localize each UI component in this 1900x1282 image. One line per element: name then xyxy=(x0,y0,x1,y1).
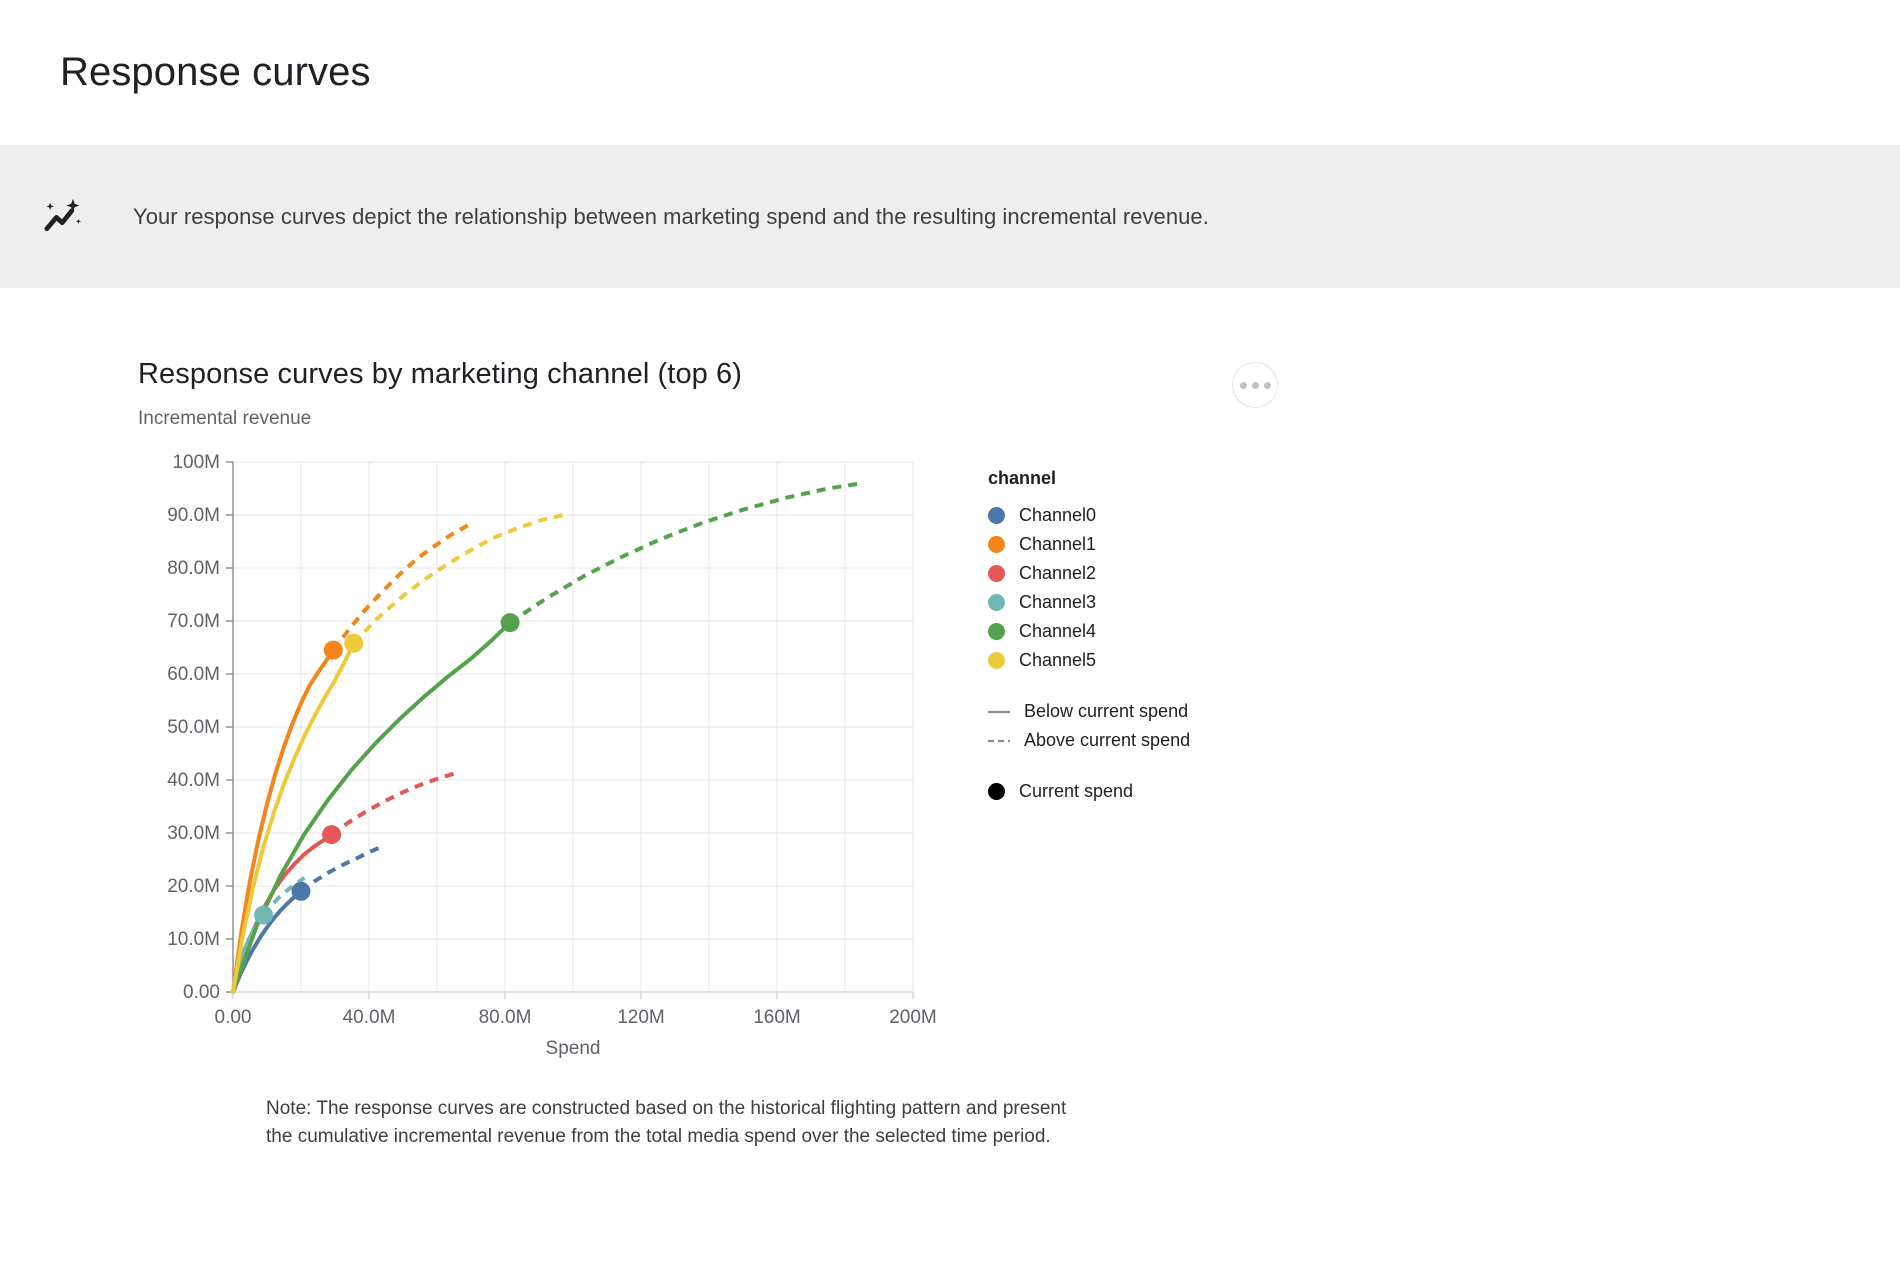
legend-label: Below current spend xyxy=(1024,701,1188,722)
current-spend-marker-channel1[interactable] xyxy=(324,641,343,660)
legend-swatch-icon xyxy=(988,652,1005,669)
series-line-above-channel0[interactable] xyxy=(301,848,379,891)
legend-item-channel2[interactable]: Channel2 xyxy=(988,559,1190,588)
legend-swatch-icon xyxy=(988,565,1005,582)
current-spend-marker-channel2[interactable] xyxy=(322,825,341,844)
legend-swatch-icon xyxy=(988,536,1005,553)
x-tick-label: 120M xyxy=(617,1007,665,1028)
legend-swatch-icon xyxy=(988,594,1005,611)
y-tick-label: 40.0M xyxy=(167,770,220,791)
x-tick-label: 200M xyxy=(889,1007,937,1028)
chart-note: Note: The response curves are constructe… xyxy=(266,1095,1096,1150)
chart-title: Response curves by marketing channel (to… xyxy=(138,358,742,391)
solid-line-icon xyxy=(988,703,1010,720)
dashed-line-icon xyxy=(988,732,1010,749)
legend-label: Above current spend xyxy=(1024,730,1190,751)
legend-label: Channel0 xyxy=(1019,505,1096,526)
sparkle-trend-icon xyxy=(35,189,91,245)
chart-header: Response curves by marketing channel (to… xyxy=(138,358,1438,430)
series-line-above-channel5[interactable] xyxy=(354,514,568,643)
legend-style-list: Below current spendAbove current spend xyxy=(988,697,1190,755)
legend-title: channel xyxy=(988,468,1190,489)
response-curves-card: Response curves by marketing channel (to… xyxy=(138,358,1438,1150)
x-tick-label: 0.00 xyxy=(215,1007,252,1028)
info-banner: Your response curves depict the relation… xyxy=(0,145,1900,288)
y-tick-label: 20.0M xyxy=(167,876,220,897)
y-tick-label: 0.00 xyxy=(183,982,220,1003)
y-tick-label: 70.0M xyxy=(167,611,220,632)
legend-swatch-icon xyxy=(988,623,1005,640)
response-curves-chart[interactable]: 0.0010.0M20.0M30.0M40.0M50.0M60.0M70.0M8… xyxy=(138,452,958,1072)
y-tick-label: 60.0M xyxy=(167,664,220,685)
legend-item-channel1[interactable]: Channel1 xyxy=(988,530,1190,559)
legend-label: Channel3 xyxy=(1019,592,1096,613)
legend-spacer-1 xyxy=(988,675,1190,697)
kebab-dot-1 xyxy=(1240,382,1247,389)
kebab-dot-3 xyxy=(1264,382,1271,389)
x-tick-label: 40.0M xyxy=(343,1007,396,1028)
current-spend-marker-channel3[interactable] xyxy=(254,906,273,925)
legend-item-channel3[interactable]: Channel3 xyxy=(988,588,1190,617)
legend-series-list: Channel0Channel1Channel2Channel3Channel4… xyxy=(988,501,1190,675)
legend-item-channel5[interactable]: Channel5 xyxy=(988,646,1190,675)
current-spend-dot-icon xyxy=(988,783,1005,800)
legend-item-solid[interactable]: Below current spend xyxy=(988,697,1190,726)
chart-legend: channel Channel0Channel1Channel2Channel3… xyxy=(988,452,1190,1077)
legend-label: Channel5 xyxy=(1019,650,1096,671)
y-tick-label: 10.0M xyxy=(167,929,220,950)
series-line-above-channel1[interactable] xyxy=(333,525,469,651)
legend-spacer-2 xyxy=(988,755,1190,777)
legend-item-channel0[interactable]: Channel0 xyxy=(988,501,1190,530)
page-header: Response curves xyxy=(0,0,1900,145)
plot-area: 0.0010.0M20.0M30.0M40.0M50.0M60.0M70.0M8… xyxy=(138,452,958,1077)
plot-wrapper: 0.0010.0M20.0M30.0M40.0M50.0M60.0M70.0M8… xyxy=(138,452,1438,1077)
y-tick-label: 100M xyxy=(172,452,220,473)
series-line-above-channel4[interactable] xyxy=(510,483,862,622)
card-area: Response curves by marketing channel (to… xyxy=(0,288,1900,1150)
chart-options-button[interactable] xyxy=(1232,362,1278,408)
legend-label-current-spend: Current spend xyxy=(1019,781,1133,802)
current-spend-marker-channel0[interactable] xyxy=(292,882,311,901)
current-spend-marker-channel4[interactable] xyxy=(501,613,520,632)
banner-message: Your response curves depict the relation… xyxy=(133,204,1209,230)
y-tick-label: 30.0M xyxy=(167,823,220,844)
y-tick-label: 90.0M xyxy=(167,505,220,526)
y-tick-label: 50.0M xyxy=(167,717,220,738)
x-tick-label: 160M xyxy=(753,1007,801,1028)
kebab-dot-2 xyxy=(1252,382,1259,389)
series-line-above-channel2[interactable] xyxy=(332,772,460,835)
y-tick-label: 80.0M xyxy=(167,558,220,579)
current-spend-marker-channel5[interactable] xyxy=(344,634,363,653)
x-tick-label: 80.0M xyxy=(479,1007,532,1028)
legend-item-current-spend[interactable]: Current spend xyxy=(988,777,1190,806)
x-axis-title: Spend xyxy=(546,1038,601,1059)
legend-item-dashed[interactable]: Above current spend xyxy=(988,726,1190,755)
chart-subtitle: Incremental revenue xyxy=(138,408,742,430)
legend-label: Channel1 xyxy=(1019,534,1096,555)
legend-label: Channel4 xyxy=(1019,621,1096,642)
legend-item-channel4[interactable]: Channel4 xyxy=(988,617,1190,646)
legend-swatch-icon xyxy=(988,507,1005,524)
page-title: Response curves xyxy=(60,50,371,95)
legend-label: Channel2 xyxy=(1019,563,1096,584)
